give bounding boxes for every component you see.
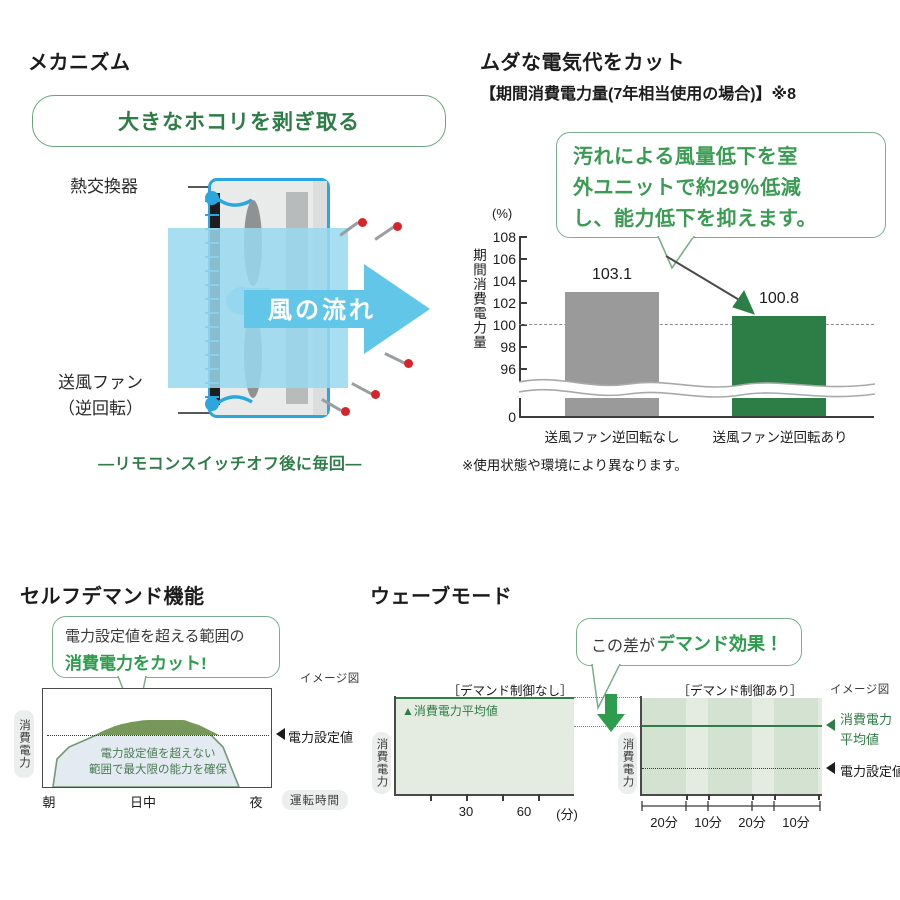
self-demand-title: セルフデマンド機能 (20, 580, 205, 609)
mechanism-banner: 大きなホコリを剥ぎ取る (32, 95, 446, 147)
chart-y-tick-label: 102 (482, 295, 516, 311)
wave-right-setpoint-label: 電力設定値 (840, 761, 900, 780)
mechanism-title: メカニズム (28, 46, 131, 75)
chart-bar-with-reverse (732, 316, 826, 416)
cost-title: ムダな電気代をカット (480, 46, 685, 75)
label-blower-fan-line2: （逆回転） (58, 394, 143, 419)
panel-self-demand: セルフデマンド機能 電力設定値を超える範囲の 消費電力をカット! イメージ図 電… (0, 560, 370, 840)
self-demand-inner-line-1: 電力設定値を超えない (43, 745, 272, 761)
wave-mode-callout-plain: この差が (591, 632, 655, 656)
self-demand-callout-line-2: 消費電力をカット! (65, 649, 207, 674)
triangle-left-icon (826, 762, 835, 774)
self-demand-callout: 電力設定値を超える範囲の 消費電力をカット! (52, 616, 280, 678)
wave-left-x-tick-30: 30 (452, 804, 480, 819)
wave-left-x-tick (502, 794, 504, 801)
dust-tail (351, 382, 372, 395)
wave-left-average-label: ▲消費電力平均値 (402, 704, 498, 719)
wave-right-average-label-line1: 消費電力 (840, 712, 892, 728)
wave-left-x-tick-60: 60 (510, 804, 538, 819)
cost-callout-line-1: 汚れによる風量低下を室 (573, 140, 798, 169)
wave-left-x-tick (538, 794, 540, 801)
dust-tail (374, 226, 394, 240)
cost-bar-chart: (%) 期間消費電力量 108 106 104 102 100 98 96 0 … (460, 200, 900, 460)
wave-right-on-band (708, 698, 752, 794)
chart-y-tick (519, 258, 527, 260)
cost-callout-line-2: 外ユニットで約29％低減 (573, 171, 801, 200)
wind-flow-label: 風の流れ (268, 290, 376, 325)
self-demand-x-tick-day: 日中 (125, 792, 161, 811)
chart-y-tick-label: 96 (482, 361, 516, 377)
chart-y-tick (519, 368, 527, 370)
chart-y-tick (519, 236, 527, 238)
chart-y-tick-label: 100 (482, 317, 516, 333)
chart-y-tick (519, 302, 527, 304)
self-demand-x-tick-night: 夜 (243, 792, 269, 811)
self-demand-plot-frame: 電力設定値を超えない 範囲で最大限の能力を確保 (42, 688, 272, 788)
wave-right-on-band (642, 698, 686, 794)
self-demand-y-axis-label: 消費電力 (14, 710, 34, 778)
wave-right-y-axis (640, 696, 642, 796)
wave-mode-left-chart: ▲消費電力平均値 (394, 696, 574, 796)
chart-y-tick-label: 98 (482, 339, 516, 355)
wave-right-x-tick-20a: 20分 (642, 812, 686, 831)
triangle-left-icon (826, 719, 835, 731)
label-heat-exchanger: 熱交換器 (70, 172, 138, 197)
wave-left-y-axis-label: 消費電力 (372, 732, 391, 794)
chart-bar-value-no-reverse: 103.1 (565, 266, 659, 284)
wave-right-average-label-line2: 平均値 (840, 732, 879, 748)
self-demand-image-note: イメージ図 (300, 670, 360, 686)
self-demand-x-tick-morning: 朝 (34, 792, 64, 811)
dust-dot (393, 222, 402, 231)
wave-mode-right-chart (640, 696, 822, 796)
chart-y-tick (519, 346, 527, 348)
dust-dot (371, 390, 380, 399)
wave-right-setpoint-line (642, 768, 820, 769)
self-demand-setpoint-label: 電力設定値 (288, 727, 353, 746)
mechanism-footer: —リモコンスイッチオフ後に毎回— (0, 450, 460, 474)
wave-left-x-axis (394, 794, 574, 796)
wave-right-average-line (640, 725, 822, 727)
self-demand-x-axis-badge: 運転時間 (282, 790, 348, 810)
chart-y-unit: (%) (492, 206, 512, 221)
wave-left-x-tick (430, 794, 432, 801)
chart-axis-break-wave (519, 376, 875, 398)
wave-left-x-tick (466, 794, 468, 801)
dust-dot (404, 359, 413, 368)
chart-x-axis (519, 416, 874, 418)
wave-left-y-axis (394, 696, 396, 796)
wave-left-x-tick-unit: (分) (550, 804, 584, 823)
wave-mode-callout-accent: デマンド効果！ (657, 630, 783, 656)
dust-dot (358, 218, 367, 227)
chart-y-tick (519, 280, 527, 282)
dust-dot (341, 407, 350, 416)
label-blower-fan-line1: 送風ファン (58, 368, 143, 393)
wave-right-x-tick-10b: 10分 (774, 812, 818, 831)
wave-right-segment-measure (640, 800, 822, 812)
wave-right-on-band (774, 698, 818, 794)
panel-mechanism: メカニズム 大きなホコリを剥ぎ取る 熱交換器 送風ファン （逆回転） (0, 0, 460, 500)
chart-category-label-with-reverse: 送風ファン逆回転あり (698, 426, 862, 446)
panel-cost-cut: ムダな電気代をカット 【期間消費電力量(7年相当使用の場合)】※8 汚れによる風… (460, 0, 900, 500)
self-demand-setpoint-line (47, 735, 269, 736)
self-demand-inner-line-2: 範囲で最大限の能力を確保 (43, 761, 272, 777)
chart-y-tick-label: 106 (482, 251, 516, 267)
chart-category-label-no-reverse: 送風ファン逆回転なし (530, 426, 694, 446)
wave-mode-callout: この差が デマンド効果！ (576, 618, 802, 666)
wave-left-average-line (394, 697, 574, 699)
wave-right-x-tick-10a: 10分 (686, 812, 730, 831)
wave-mode-image-note: イメージ図 (830, 681, 890, 697)
down-arrow-icon (596, 694, 626, 734)
mechanism-banner-label: 大きなホコリを剥ぎ取る (118, 106, 360, 136)
wave-right-x-axis (640, 794, 822, 796)
wave-mode-title: ウェーブモード (370, 580, 512, 609)
panel-wave-mode: ウェーブモード この差が デマンド効果！ ［デマンド制御なし］ ［デマンド制御あ… (360, 560, 900, 840)
wave-right-y-axis-label: 消費電力 (618, 732, 637, 794)
wave-right-x-tick-20b: 20分 (730, 812, 774, 831)
chart-y-tick-label: 108 (482, 229, 516, 245)
self-demand-callout-line-1: 電力設定値を超える範囲の (65, 625, 245, 646)
cost-subtitle: 【期間消費電力量(7年相当使用の場合)】※8 (480, 80, 796, 104)
chart-y-tick-label: 0 (482, 409, 516, 425)
triangle-left-icon (276, 728, 285, 740)
chart-note: ※使用状態や環境により異なります。 (462, 454, 688, 474)
chart-bar-value-with-reverse: 100.8 (732, 290, 826, 308)
chart-y-tick-label: 104 (482, 273, 516, 289)
